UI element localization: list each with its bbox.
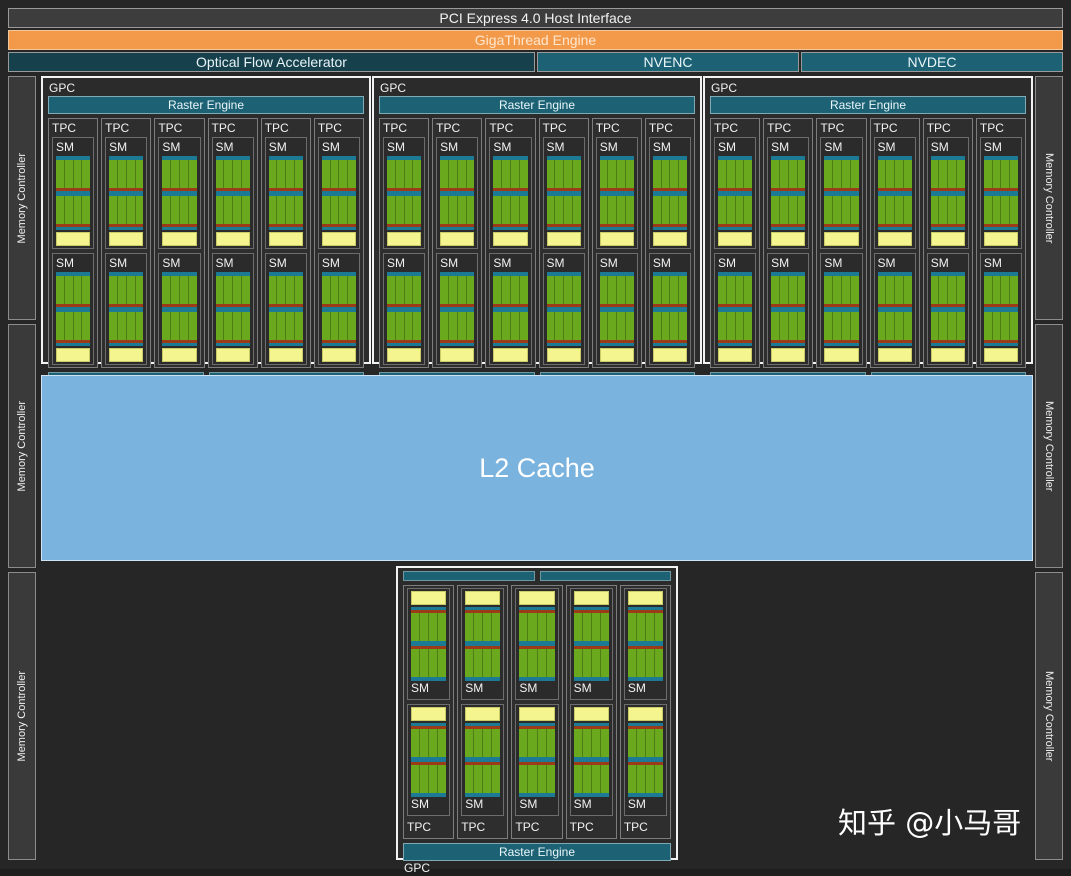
sm-core-column [1001,312,1010,340]
gpu-die-diagram: PCI Express 4.0 Host Interface GigaThrea… [0,0,1071,869]
sm-core-column [904,276,912,304]
tpc-label: TPC [570,820,613,836]
tpc-block[interactable]: TPCSMSM [763,118,813,368]
sm-label: SM [628,797,663,813]
sm-internal-stack [493,272,527,362]
sm-core-column [948,312,957,340]
sm-block[interactable]: SM [318,137,360,249]
sm-block[interactable]: SM [489,137,531,249]
sm-core-column [413,196,421,224]
sm-core-column [904,196,912,224]
sm-block[interactable]: SM [624,588,667,700]
sm-block[interactable]: SM [436,253,478,365]
sm-block[interactable]: SM [980,137,1022,249]
sm-core-column [662,196,671,224]
sm-texture-unit [878,348,912,362]
sm-core-column [411,613,420,641]
tpc-block[interactable]: SMSMTPC [403,585,454,839]
sm-block[interactable]: SM [52,137,94,249]
sm-core-column [583,765,592,793]
sm-texture-unit [718,348,752,362]
sm-block[interactable]: SM [874,253,916,365]
sm-core-column [878,312,887,340]
sm-core-column [833,276,842,304]
sm-core-column [467,160,475,188]
sm-core-column [824,312,833,340]
sm-label: SM [322,140,356,156]
sm-block[interactable]: SM [383,253,425,365]
raster-engine-bar: Raster Engine [379,96,695,114]
tpc-block[interactable]: TPCSMSM [710,118,760,368]
sm-block[interactable]: SM [515,588,558,700]
sm-core-array [574,765,609,793]
tpc-label: TPC [767,121,809,137]
sm-internal-stack [493,156,527,246]
sm-core-column [339,276,348,304]
sm-core-column [727,276,736,304]
sm-core-column [824,276,833,304]
sm-core-array [931,196,965,224]
sm-core-column [780,196,789,224]
sm-block[interactable]: SM [436,137,478,249]
sm-core-column [655,765,663,793]
tpc-block[interactable]: TPCSMSM [539,118,589,368]
sm-core-column [331,160,340,188]
sm-core-column [224,312,233,340]
sm-core-column [467,276,475,304]
sm-core-column [744,276,752,304]
sm-block[interactable]: SM [543,137,585,249]
sm-core-column [984,312,993,340]
sm-core-column [931,196,940,224]
sm-texture-unit [56,348,90,362]
sm-label: SM [653,256,687,272]
sm-core-column [851,276,859,304]
sm-core-column [492,649,500,677]
sm-core-column [547,196,556,224]
sm-block[interactable]: SM [158,137,200,249]
sm-texture-unit [824,232,858,246]
tpc-block[interactable]: SMSMTPC [457,585,508,839]
sm-core-column [600,160,609,188]
tpc-block[interactable]: TPCSMSM [208,118,258,368]
sm-core-array [718,160,752,188]
sm-core-column [608,196,617,224]
tpc-label: TPC [596,121,638,137]
sm-core-column [592,729,601,757]
sm-texture-unit [162,348,196,362]
sm-core-column [420,649,429,677]
sm-core-column [780,160,789,188]
sm-core-column [601,765,609,793]
memory-controller-label: Memory Controller [16,153,28,243]
sm-label: SM [493,256,527,272]
raster-engine-bar: Raster Engine [710,96,1026,114]
sm-core-column [387,276,396,304]
sm-core-column [411,649,420,677]
sm-block[interactable]: SM [649,137,691,249]
tpc-block[interactable]: TPCSMSM [870,118,920,368]
sm-block[interactable]: SM [489,253,531,365]
sm-core-column [440,160,449,188]
gpc-top-right: GPC Raster Engine TPCSMSMTPCSMSMTPCSMSMT… [703,76,1033,364]
tpc-block[interactable]: TPCSMSM [432,118,482,368]
sm-core-column [286,196,295,224]
sm-block[interactable]: SM [767,253,809,365]
sm-core-column [583,649,592,677]
sm-core-column [118,276,127,304]
tpc-block[interactable]: TPCSMSM [976,118,1026,368]
sm-block[interactable]: SM [820,253,862,365]
sm-core-array [878,276,912,304]
sm-core-array [600,160,634,188]
gigathread-engine-bar: GigaThread Engine [8,30,1063,50]
sm-core-column [895,196,904,224]
tpc-block[interactable]: TPCSMSM [816,118,866,368]
sm-core-column [224,196,233,224]
sm-core-array [771,196,805,224]
sm-core-column [727,312,736,340]
sm-internal-stack [465,707,500,797]
sm-core-column [626,312,634,340]
sm-core-column [493,160,502,188]
sm-internal-stack [771,272,805,362]
sm-core-column [413,276,421,304]
sm-block[interactable]: SM [820,137,862,249]
sm-label: SM [440,140,474,156]
sm-core-array [519,649,554,677]
sm-core-array [440,312,474,340]
sm-block[interactable]: SM [596,253,638,365]
sm-core-column [736,312,745,340]
sm-core-array [493,196,527,224]
sm-core-column [429,729,438,757]
sm-block[interactable]: SM [714,137,756,249]
sm-core-column [180,196,189,224]
sm-core-column [895,276,904,304]
sm-core-array [411,613,446,641]
sm-core-column [886,276,895,304]
tpc-block[interactable]: TPCSMSM [923,118,973,368]
sm-core-column [277,196,286,224]
sm-block[interactable]: SM [767,137,809,249]
sm-core-array [109,160,143,188]
sm-core-column [127,196,136,224]
sm-core-column [162,196,171,224]
sm-block[interactable]: SM [543,253,585,365]
sm-internal-stack [216,156,250,246]
sm-core-column [736,196,745,224]
tpc-label: TPC [265,121,307,137]
sm-core-column [798,276,806,304]
sm-core-column [56,276,65,304]
sm-core-column [493,196,502,224]
sm-core-column [833,196,842,224]
sm-texture-unit [493,348,527,362]
sm-core-column [242,196,250,224]
sm-internal-stack [322,156,356,246]
sm-core-column [322,276,331,304]
sm-core-array [493,276,527,304]
sm-core-column [646,613,655,641]
sm-core-column [65,276,74,304]
sm-internal-stack [600,156,634,246]
sm-core-column [520,312,528,340]
sm-core-column [171,196,180,224]
sm-core-column [483,765,492,793]
sm-core-array [628,649,663,677]
memory-controller-label: Memory Controller [1043,671,1055,761]
sm-block[interactable]: SM [461,704,504,816]
sm-core-column [547,765,555,793]
sm-core-column [82,312,90,340]
sm-internal-stack [878,156,912,246]
sm-core-array [878,160,912,188]
sm-core-column [56,196,65,224]
sm-block[interactable]: SM [515,704,558,816]
sm-core-column [242,276,250,304]
sm-core-column [574,765,583,793]
sm-core-column [511,160,520,188]
sm-core-column [957,276,965,304]
sm-core-column [162,276,171,304]
sm-core-array [519,765,554,793]
sm-core-array [411,649,446,677]
sm-block[interactable]: SM [570,588,613,700]
sm-internal-stack [519,707,554,797]
sm-core-column [771,276,780,304]
sm-core-column [348,312,356,340]
sm-core-column [189,160,197,188]
sm-core-column [626,276,634,304]
sm-core-column [109,276,118,304]
sm-core-column [780,276,789,304]
sm-label: SM [824,140,858,156]
tpc-block[interactable]: SMSMTPC [511,585,562,839]
sm-core-column [405,196,414,224]
sm-core-column [608,276,617,304]
sm-block[interactable]: SM [461,588,504,700]
sm-core-column [1010,160,1018,188]
gpc-bottom-center: SMSMTPCSMSMTPCSMSMTPCSMSMTPCSMSMTPC Rast… [396,566,678,860]
sm-core-column [727,196,736,224]
tpc-block[interactable]: TPCSMSM [485,118,535,368]
tpc-block[interactable]: SMSMTPC [620,585,671,839]
sm-core-column [458,160,467,188]
sm-core-column [780,312,789,340]
sm-core-column [465,649,474,677]
sm-block[interactable]: SM [265,253,307,365]
sm-block[interactable]: SM [52,253,94,365]
sm-core-column [331,196,340,224]
sm-core-array [519,613,554,641]
sm-block[interactable]: SM [624,704,667,816]
sm-texture-unit [653,232,687,246]
sm-block[interactable]: SM [570,704,613,816]
sm-internal-stack [411,707,446,797]
sm-core-column [608,160,617,188]
sm-core-column [348,196,356,224]
sm-block[interactable]: SM [383,137,425,249]
sm-core-column [65,160,74,188]
tpc-label: TPC [461,820,504,836]
sm-core-column [474,649,483,677]
sm-core-column [413,312,421,340]
tpc-block[interactable]: TPCSMSM [645,118,695,368]
sm-label: SM [931,140,965,156]
sm-core-column [216,312,225,340]
sm-core-array [653,312,687,340]
sm-core-array [269,312,303,340]
sm-core-column [467,196,475,224]
sm-core-array [269,160,303,188]
sm-block[interactable]: SM [158,253,200,365]
sm-core-array [600,196,634,224]
sm-block[interactable]: SM [927,137,969,249]
sm-core-column [939,196,948,224]
sm-core-column [655,613,663,641]
sm-core-column [798,160,806,188]
sm-texture-unit [600,232,634,246]
sm-core-array [878,312,912,340]
sm-texture-unit [519,591,554,605]
sm-internal-stack [162,272,196,362]
sm-block[interactable]: SM [927,253,969,365]
sm-block[interactable]: SM [407,704,450,816]
sm-block[interactable]: SM [105,137,147,249]
sm-texture-unit [465,707,500,721]
sm-block[interactable]: SM [980,253,1022,365]
sm-core-array [547,276,581,304]
sm-block[interactable]: SM [265,137,307,249]
sm-internal-stack [109,272,143,362]
sm-label: SM [216,256,250,272]
sm-texture-unit [216,232,250,246]
sm-core-column [637,765,646,793]
sm-core-column [646,729,655,757]
tpc-block[interactable]: TPCSMSM [154,118,204,368]
sm-core-column [655,649,663,677]
sm-texture-unit [653,348,687,362]
sm-internal-stack [519,591,554,681]
sm-block[interactable]: SM [212,137,254,249]
tpc-label: TPC [407,820,450,836]
tpc-block[interactable]: TPCSMSM [314,118,364,368]
tpc-label: TPC [980,121,1022,137]
sm-core-array [216,160,250,188]
sm-core-column [387,160,396,188]
sm-core-column [583,613,592,641]
tpc-block[interactable]: TPCSMSM [592,118,642,368]
sm-core-column [904,312,912,340]
sm-core-column [771,312,780,340]
sm-internal-stack [771,156,805,246]
sm-core-column [396,276,405,304]
sm-core-column [646,649,655,677]
sm-core-column [1001,160,1010,188]
sm-core-column [429,613,438,641]
sm-core-column [948,160,957,188]
sm-core-column [492,729,500,757]
sm-core-column [440,196,449,224]
tpc-block[interactable]: TPCSMSM [101,118,151,368]
sm-block[interactable]: SM [649,253,691,365]
sm-internal-stack [465,591,500,681]
sm-core-column [449,276,458,304]
sm-core-column [502,160,511,188]
sm-core-array [465,729,500,757]
sm-core-column [405,312,414,340]
sm-core-column [162,312,171,340]
sm-block[interactable]: SM [318,253,360,365]
gpc-label: GPC [46,81,366,96]
sm-core-array [653,276,687,304]
sm-block[interactable]: SM [596,137,638,249]
tpc-block[interactable]: TPCSMSM [48,118,98,368]
sm-core-column [348,276,356,304]
sm-core-column [286,312,295,340]
sm-texture-unit [984,232,1018,246]
sm-block[interactable]: SM [874,137,916,249]
sm-core-array [269,196,303,224]
sm-texture-unit [628,707,663,721]
sm-core-column [637,729,646,757]
sm-core-column [216,276,225,304]
sm-core-column [492,613,500,641]
sm-block[interactable]: SM [212,253,254,365]
tpc-block[interactable]: SMSMTPC [566,585,617,839]
sm-label: SM [519,797,554,813]
gpc-top-left: GPC Raster Engine TPCSMSMTPCSMSMTPCSMSMT… [41,76,371,364]
sm-core-array [984,196,1018,224]
sm-label: SM [440,256,474,272]
sm-block[interactable]: SM [407,588,450,700]
tpc-block[interactable]: TPCSMSM [379,118,429,368]
sm-core-column [592,649,601,677]
sm-core-column [1010,312,1018,340]
sm-core-array [931,160,965,188]
sm-core-column [502,276,511,304]
tpc-row: TPCSMSMTPCSMSMTPCSMSMTPCSMSMTPCSMSMTPCSM… [46,118,366,368]
sm-core-column [842,312,851,340]
sm-core-array [493,160,527,188]
sm-label: SM [771,256,805,272]
sm-label: SM [493,140,527,156]
sm-texture-unit [547,232,581,246]
tpc-block[interactable]: TPCSMSM [261,118,311,368]
sm-core-array [465,613,500,641]
sm-core-column [948,276,957,304]
sm-block[interactable]: SM [105,253,147,365]
watermark: 知乎 @小马哥 [838,800,1021,842]
sm-core-column [162,160,171,188]
rop-partition [403,571,535,581]
sm-core-column [574,729,583,757]
sm-core-column [637,613,646,641]
sm-core-column [538,649,547,677]
sm-core-column [411,729,420,757]
sm-core-column [127,312,136,340]
sm-core-array [322,276,356,304]
sm-core-column [467,312,475,340]
sm-core-column [886,196,895,224]
sm-core-column [744,160,752,188]
sm-core-array [931,312,965,340]
top-interface-bars: PCI Express 4.0 Host Interface GigaThrea… [8,8,1063,74]
sm-core-column [653,196,662,224]
sm-block[interactable]: SM [714,253,756,365]
sm-core-column [269,160,278,188]
